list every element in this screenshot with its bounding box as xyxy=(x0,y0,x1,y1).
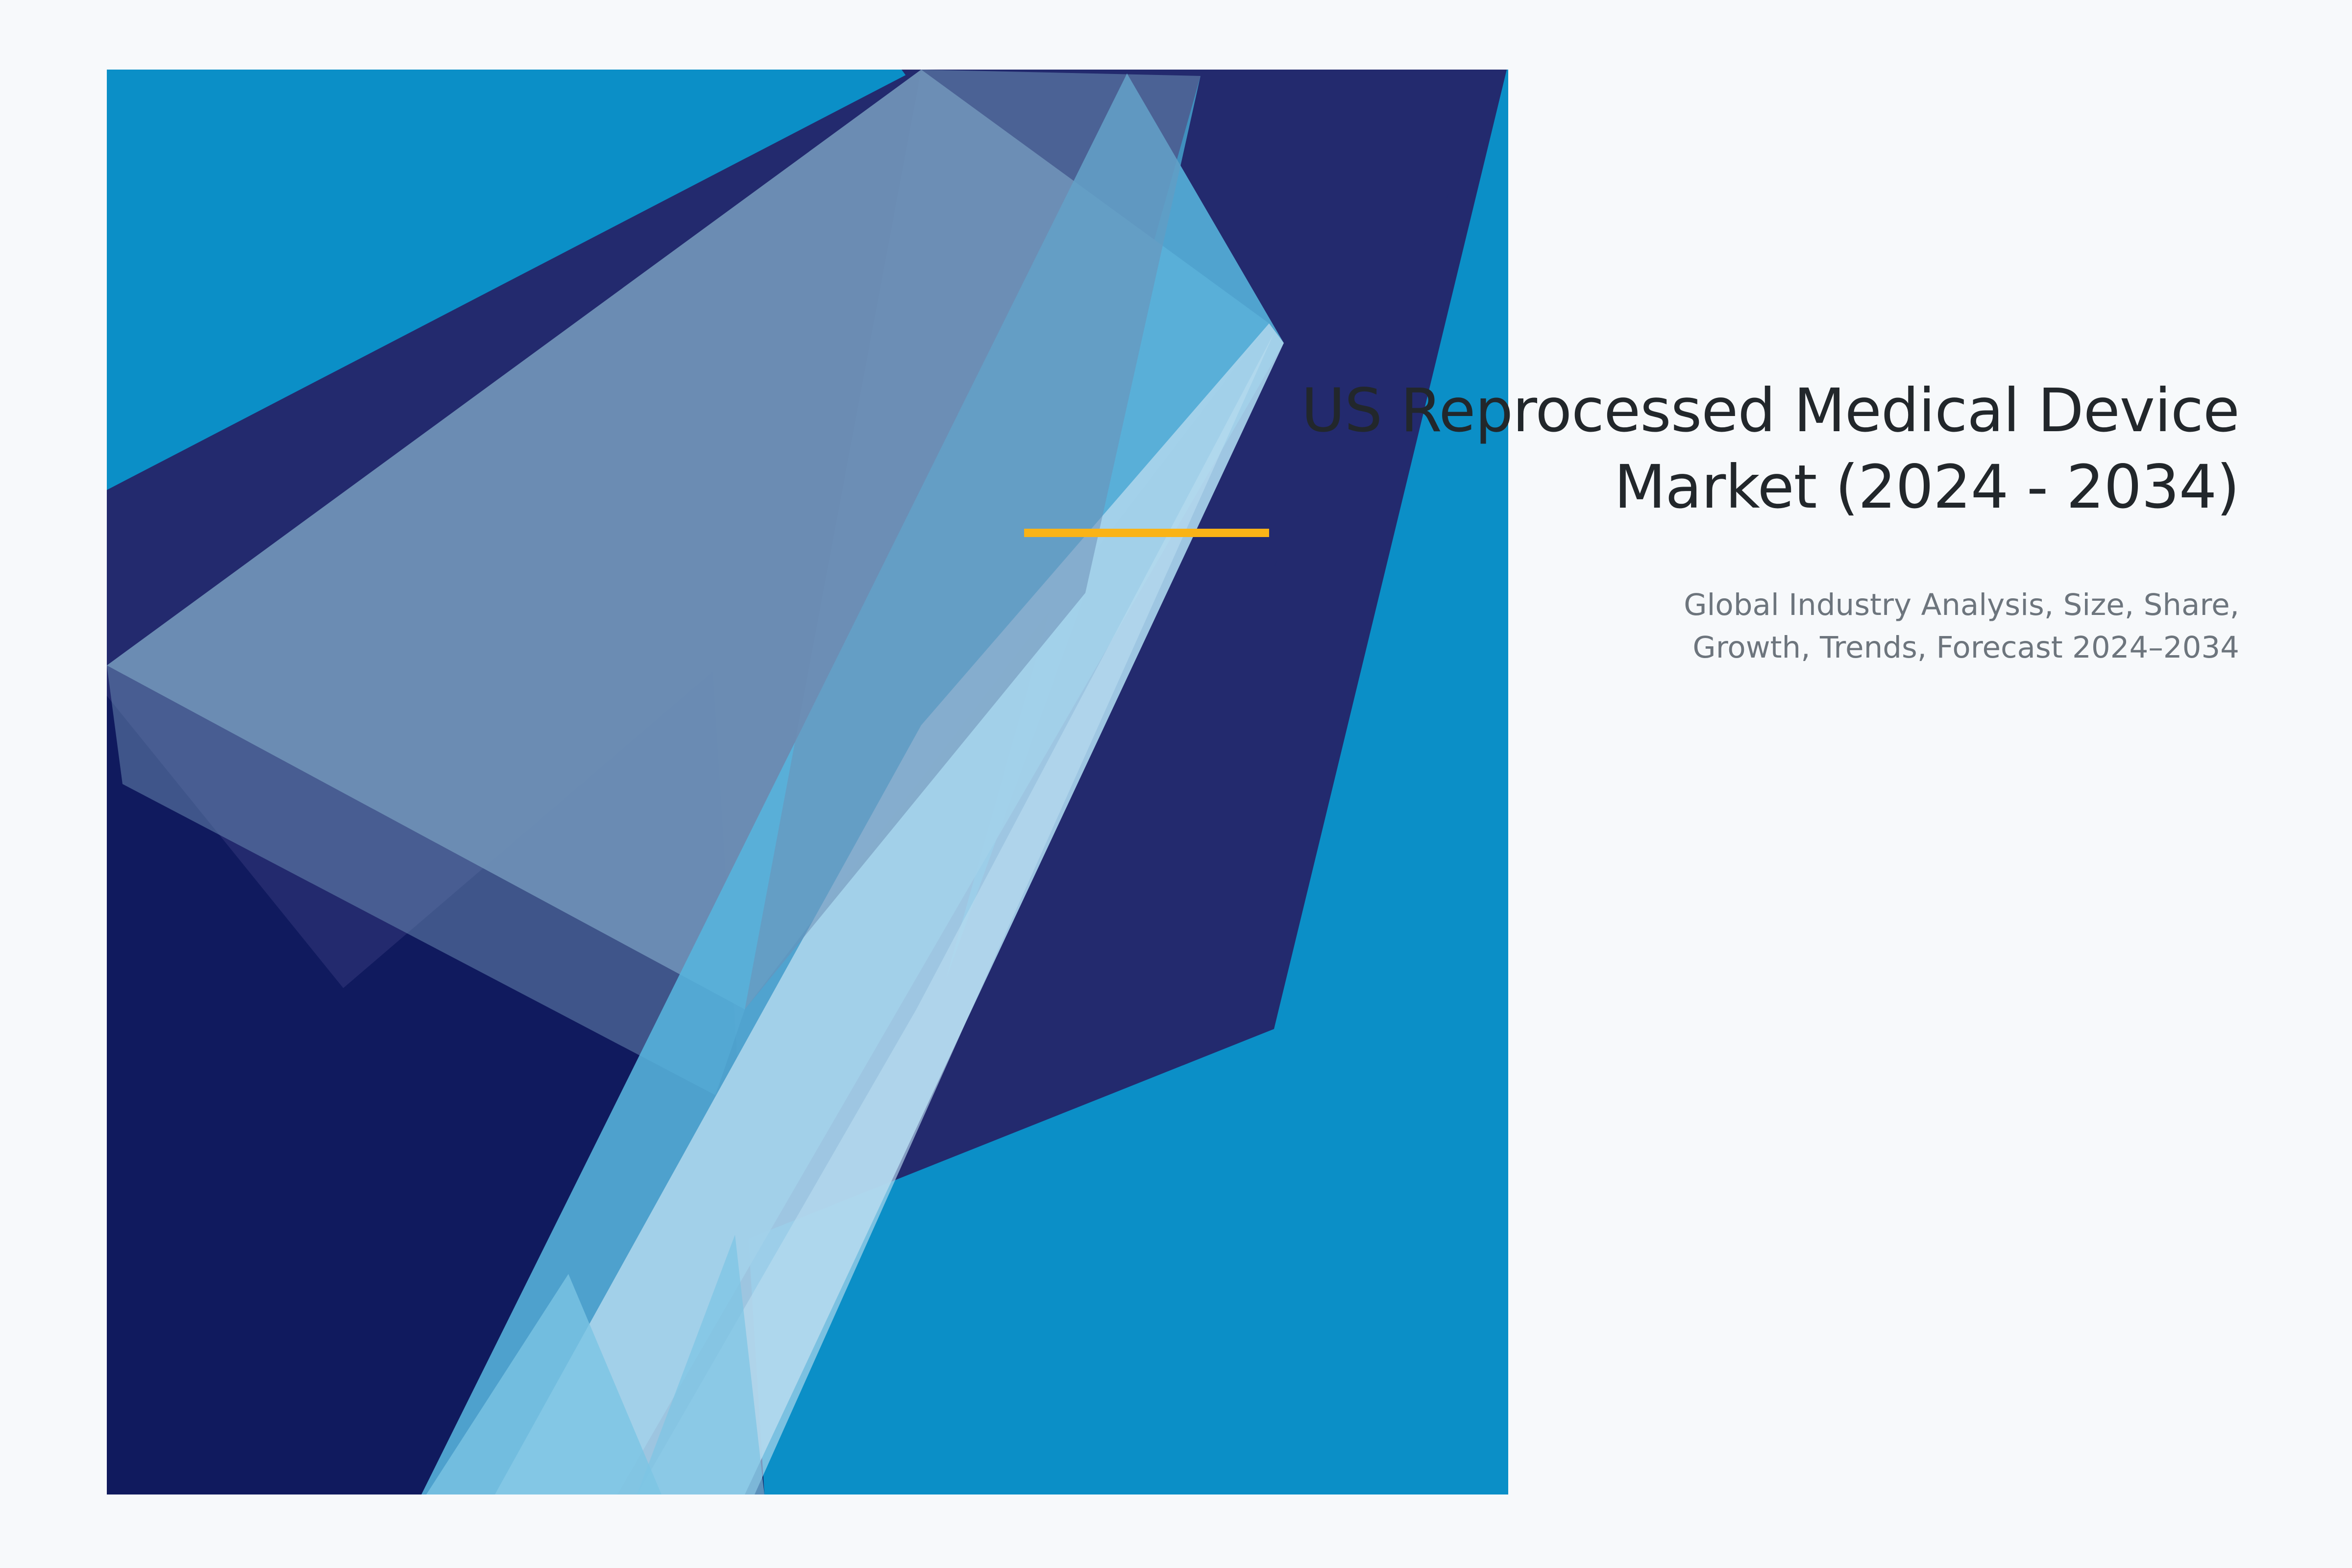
abstract-geometric-cover-graphic xyxy=(0,0,2352,1568)
report-cover-page: US Reprocessed Medical DeviceMarket (202… xyxy=(0,0,2352,1568)
page-title: US Reprocessed Medical DeviceMarket (202… xyxy=(980,372,2239,525)
page-subtitle-line-1: Global Industry Analysis, Size, Share, xyxy=(1684,588,2239,622)
title-accent-underline xyxy=(1024,529,1269,537)
hero-text-block: US Reprocessed Medical DeviceMarket (202… xyxy=(980,372,2239,669)
page-subtitle: Global Industry Analysis, Size, Share,Gr… xyxy=(980,525,2239,669)
title-wrapper: US Reprocessed Medical DeviceMarket (202… xyxy=(980,372,2239,525)
page-title-line-2: Market (2024 - 2034) xyxy=(1614,452,2239,522)
page-subtitle-line-2: Growth, Trends, Forecast 2024–2034 xyxy=(1692,630,2239,665)
page-title-line-1: US Reprocessed Medical Device xyxy=(1301,376,2239,445)
